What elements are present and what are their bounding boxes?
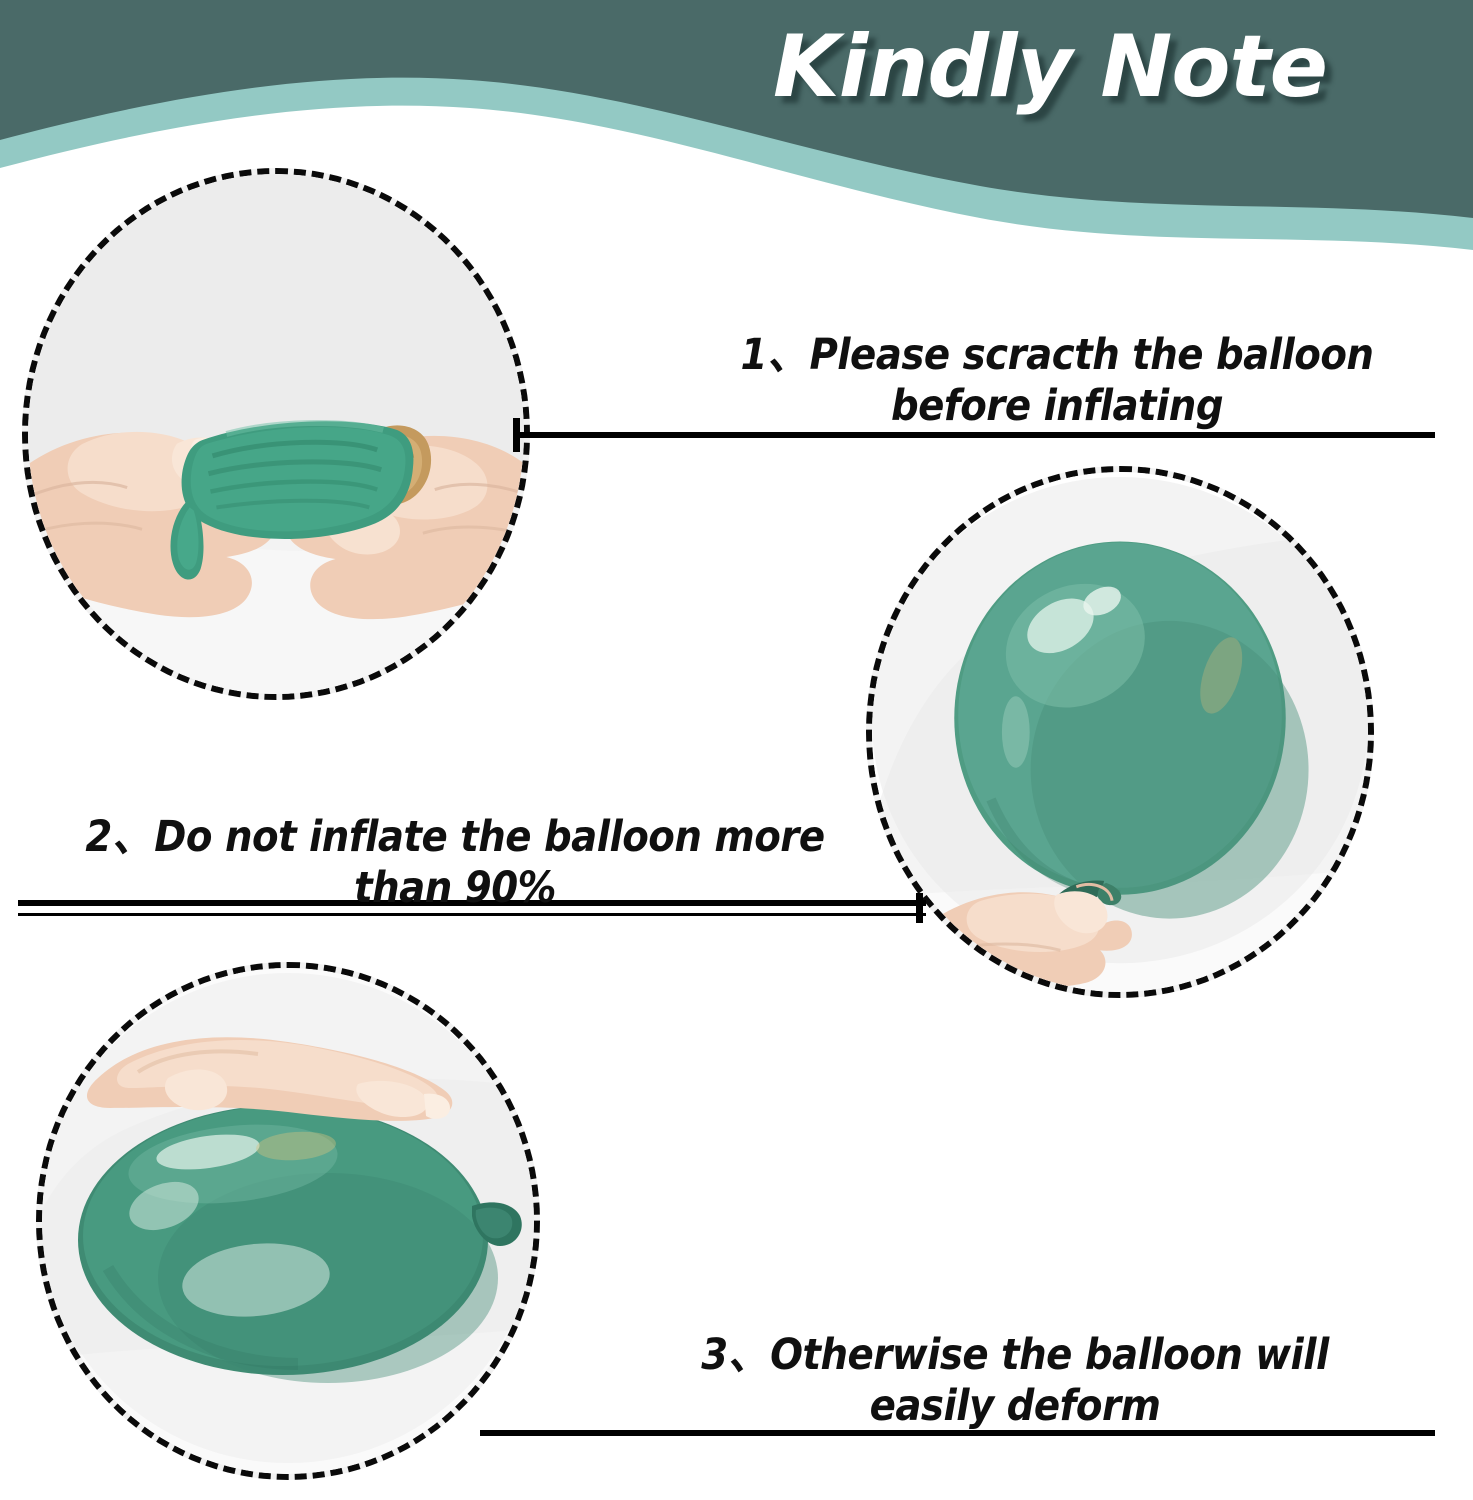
connector-cap-step-1 [513,418,520,452]
photo-inflated-balloon [866,466,1374,998]
step-1-text-line-1: Please scracth the balloon [809,330,1373,380]
step-1-line-2: before inflating [662,381,1452,432]
connector-cap-step-2 [916,893,923,923]
step-3-line-2: easily deform [600,1381,1430,1432]
step-2-number: 2、 [85,812,154,862]
step-3-text-line-1: Otherwise the balloon will [770,1330,1329,1380]
step-2-line-2: than 90% [40,863,870,914]
infographic-canvas: Kindly Note [0,0,1473,1500]
photo-deformed-balloon-image [42,968,534,1474]
step-1-number: 1、 [741,330,810,380]
step-2-line-1: 2、Do not inflate the balloon more [85,812,824,862]
photo-deformed-balloon [36,962,540,1480]
photo-stretch-balloon-image [28,174,524,694]
step-1-line-1: 1、Please scracth the balloon [741,330,1374,380]
connector-line-step-1 [513,432,1435,438]
step-3-line-1: 3、Otherwise the balloon will [701,1330,1329,1380]
step-3-text: 3、Otherwise the balloon will easily defo… [600,1330,1430,1431]
photo-inflated-balloon-image [872,472,1368,992]
photo-stretch-balloon [22,168,530,700]
step-2-text: 2、Do not inflate the balloon more than 9… [40,812,870,913]
step-2-text-line-1: Do not inflate the balloon more [154,812,824,862]
step-3-number: 3、 [701,1330,770,1380]
page-title: Kindly Note [700,22,1400,112]
step-1-text: 1、Please scracth the balloon before infl… [662,330,1452,431]
